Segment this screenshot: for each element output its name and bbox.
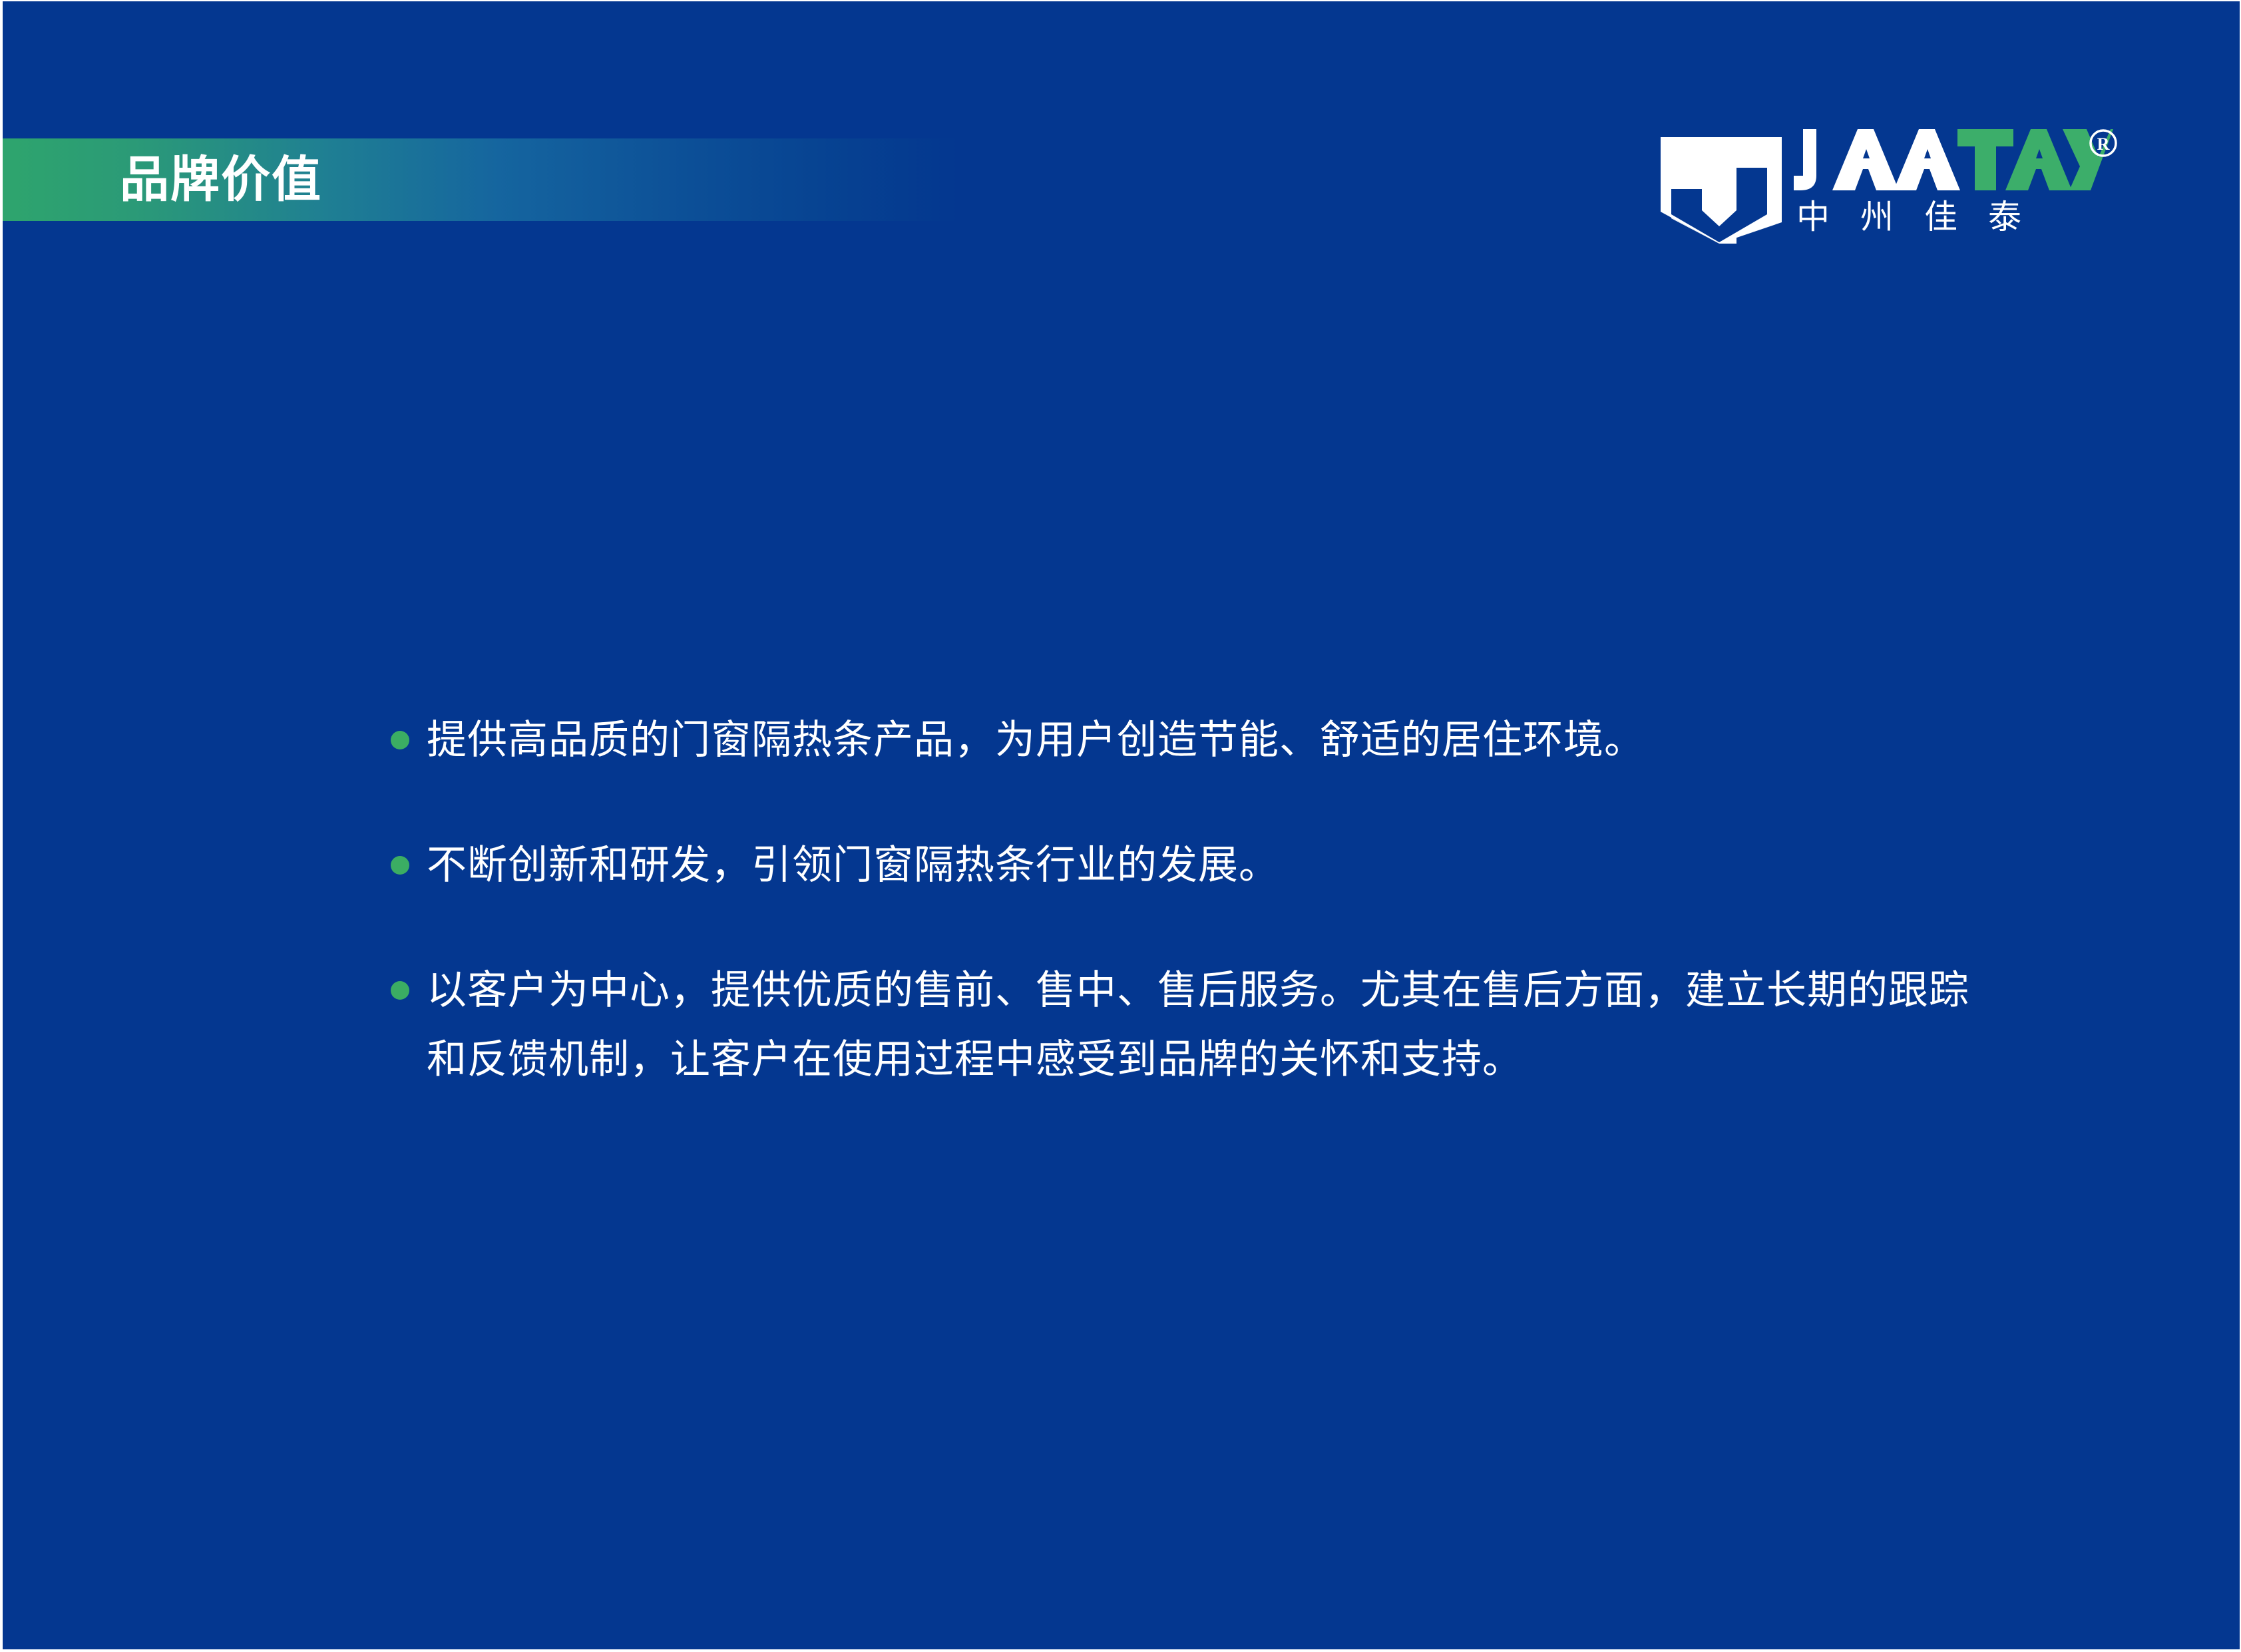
page-title: 品牌价值 <box>120 146 322 213</box>
slide-canvas: 品牌价值 R 中州佳泰 <box>0 0 2241 1652</box>
brand-logo: R 中州佳泰 <box>1657 125 2109 252</box>
list-item-text: 以客户为中心，提供优质的售前、售中、售后服务。尤其在售后方面，建立长期的跟踪和反… <box>427 956 1983 1094</box>
svg-text:R: R <box>2097 134 2110 154</box>
list-item: 以客户为中心，提供优质的售前、售中、售后服务。尤其在售后方面，建立长期的跟踪和反… <box>385 956 1983 1094</box>
list-item-text: 提供高品质的门窗隔热条产品，为用户创造节能、舒适的居住环境。 <box>427 706 1983 775</box>
list-item-text: 不断创新和研发，引领门窗隔热条行业的发展。 <box>427 831 1983 900</box>
list-item: 不断创新和研发，引领门窗隔热条行业的发展。 <box>385 831 1983 900</box>
jaatay-wordmark <box>1794 129 2113 190</box>
jaatay-shield-j-icon <box>1657 137 1782 244</box>
list-item: 提供高品质的门窗隔热条产品，为用户创造节能、舒适的居住环境。 <box>385 706 1983 775</box>
brand-value-bullet-list: 提供高品质的门窗隔热条产品，为用户创造节能、舒适的居住环境。 不断创新和研发，引… <box>385 706 1983 1094</box>
bullet-dot-icon <box>391 731 409 749</box>
logo-chinese-name: 中州佳泰 <box>1796 197 2052 237</box>
bullet-dot-icon <box>391 856 409 875</box>
registered-trademark-icon: R <box>2088 128 2119 158</box>
bullet-dot-icon <box>391 981 409 1000</box>
